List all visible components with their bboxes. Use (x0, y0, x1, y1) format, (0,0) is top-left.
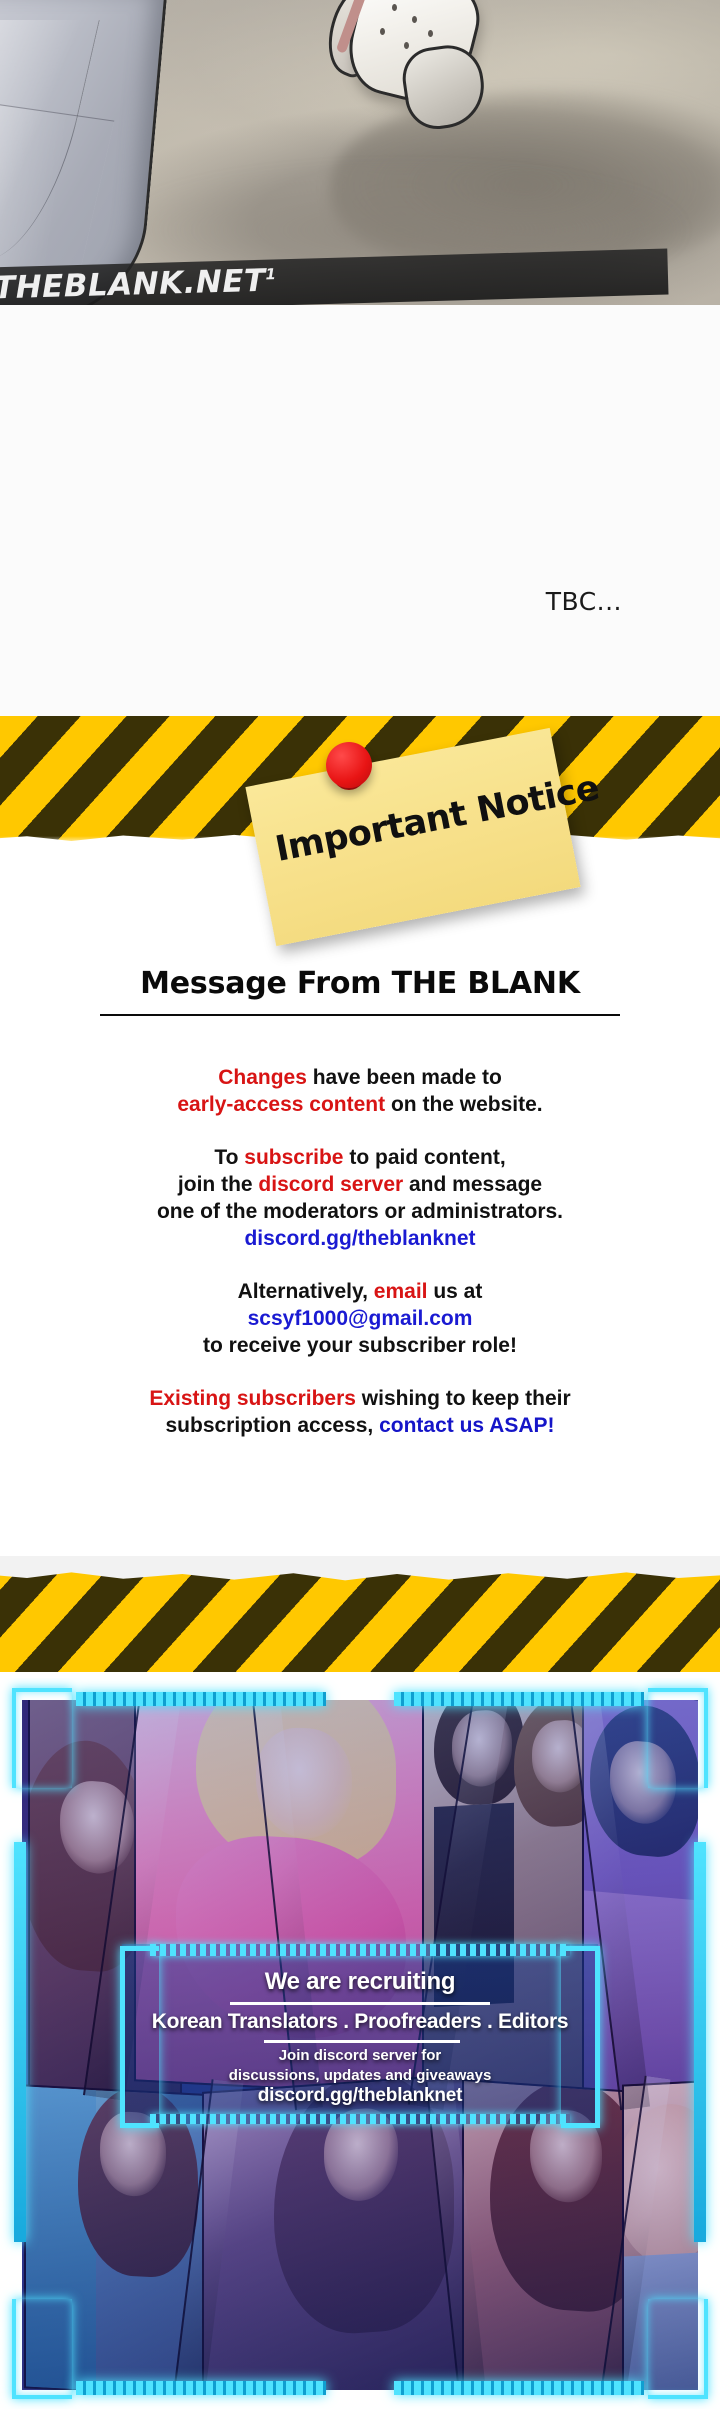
shoe-pattern-dot (428, 30, 433, 37)
notice-p3-l3: to receive your subscriber role! (203, 1334, 517, 1357)
shoe-pattern-dot (380, 28, 385, 35)
tbc-text: TBC... (546, 587, 622, 616)
notice-paragraph-1: Changes have been made to early-access c… (0, 1064, 720, 1118)
notice-title: Message From THE BLANK (0, 966, 720, 1001)
notice-p3-l1-highlight: email (374, 1280, 428, 1303)
shoe-pattern-dot (404, 42, 409, 49)
notice-title-underline (100, 1014, 620, 1016)
tbc-panel: TBC... (0, 305, 720, 716)
card-hatch-top (150, 1944, 570, 1956)
recruiting-text-card: We are recruiting Korean Translators . P… (122, 1944, 598, 2124)
recruiting-subtext-line1: Join discord server for (279, 2047, 442, 2064)
watermark-label: THEBLANK.NET (0, 263, 266, 305)
site-watermark-text: THEBLANK.NET1 (0, 262, 277, 305)
shoe-pattern-dot (392, 4, 397, 11)
clothing-fold-secondary (0, 101, 114, 290)
notice-p2-l1-pre: To (214, 1146, 244, 1169)
card-hatch-bottom (150, 2114, 570, 2124)
email-link[interactable]: scsyf1000@gmail.com (248, 1307, 473, 1330)
notice-p2-l3: one of the moderators or administrators. (157, 1200, 563, 1223)
notice-p4-l2-pre: subscription access, (165, 1414, 379, 1437)
notice-p2-l1-highlight: subscribe (244, 1146, 343, 1169)
notice-body: Changes have been made to early-access c… (0, 1064, 720, 1465)
discord-invite-link[interactable]: discord.gg/theblanknet (244, 1227, 475, 1250)
recruiting-banner[interactable]: We are recruiting Korean Translators . P… (0, 1678, 720, 2409)
notice-paragraph-4: Existing subscribers wishing to keep the… (0, 1385, 720, 1439)
notice-p2-l2-pre: join the (178, 1173, 259, 1196)
watermark-superscript: 1 (265, 265, 276, 283)
important-notice-label: Important Notice (272, 776, 560, 870)
notice-p2-l2-highlight: discord server (258, 1173, 403, 1196)
character-clothing (0, 0, 168, 305)
notice-paragraph-2: To subscribe to paid content, join the d… (0, 1144, 720, 1252)
notice-p3-l1-pre: Alternatively, (238, 1280, 374, 1303)
pushpin-icon (326, 742, 372, 788)
recruiting-heading-rule (230, 2002, 490, 2005)
notice-p2-l2-post: and message (403, 1173, 542, 1196)
contact-us-link[interactable]: contact us ASAP! (379, 1414, 554, 1437)
notice-p2-l1-post: to paid content, (344, 1146, 506, 1169)
notice-p4-l1-rest: wishing to keep their (356, 1387, 571, 1410)
recruiting-discord-link[interactable]: discord.gg/theblanknet (122, 2085, 598, 2107)
comic-panel-image: THEBLANK.NET1 (0, 0, 720, 305)
recruiting-subtext-line2: discussions, updates and giveaways (229, 2067, 492, 2084)
notice-p1-l2-rest: on the website. (385, 1093, 543, 1116)
notice-p4-l1-highlight: Existing subscribers (149, 1387, 356, 1410)
recruiting-roles-rule (264, 2040, 460, 2043)
notice-section: Message From THE BLANK Changes have been… (0, 846, 720, 1540)
recruiting-roles: Korean Translators . Proofreaders . Edit… (122, 2010, 598, 2034)
recruiting-heading: We are recruiting (122, 1968, 598, 1996)
notice-p1-l1-rest: have been made to (307, 1066, 502, 1089)
notice-p1-l1-highlight: Changes (218, 1066, 307, 1089)
notice-p3-l1-post: us at (428, 1280, 483, 1303)
recruiting-subtext: Join discord server for discussions, upd… (122, 2046, 598, 2086)
notice-p1-l2-highlight: early-access content (177, 1093, 385, 1116)
hazard-stripe-banner-bottom (0, 1556, 720, 1678)
shoe-pattern-dot (412, 16, 417, 23)
notice-paragraph-3: Alternatively, email us at scsyf1000@gma… (0, 1278, 720, 1359)
webtoon-page: THEBLANK.NET1 TBC... Important Notice Me… (0, 0, 720, 2409)
